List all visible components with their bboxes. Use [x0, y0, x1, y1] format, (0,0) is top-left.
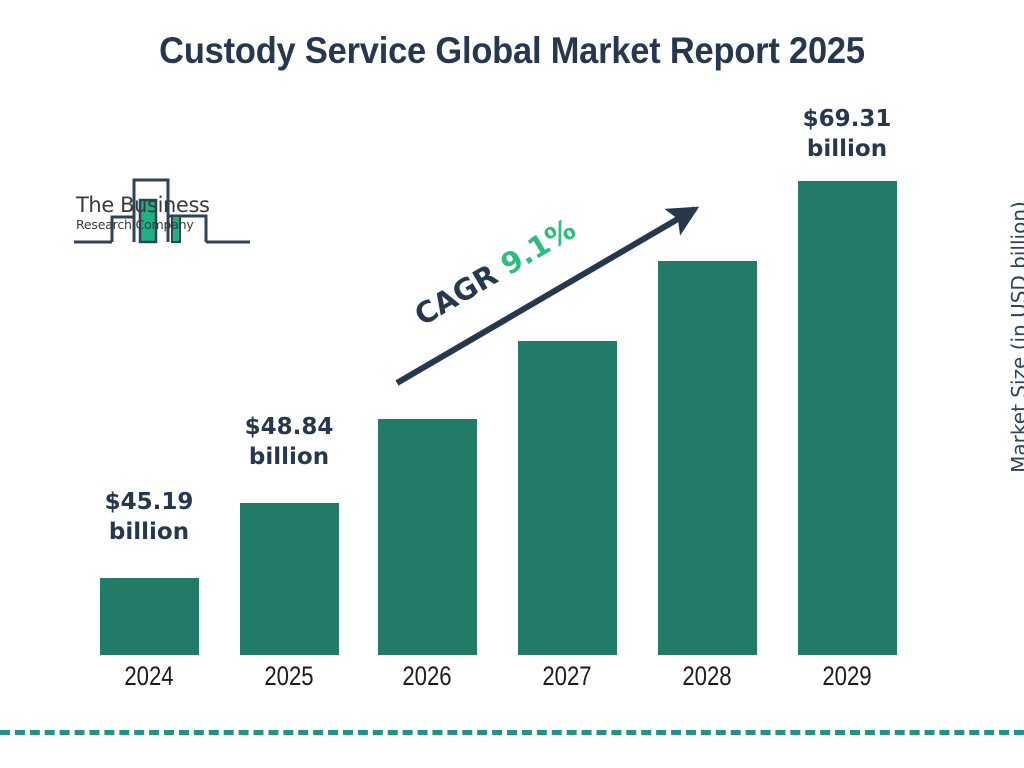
chart-canvas: Custody Service Global Market Report 202…: [0, 0, 1024, 768]
bar-value-amount-2024: $45.19: [74, 487, 224, 517]
bar-2026: [378, 419, 477, 655]
bar-2025: [240, 503, 339, 655]
y-axis-title: Market Size (in USD billion): [1007, 187, 1024, 487]
bar-2024: [100, 578, 199, 655]
x-label-2027: 2027: [526, 661, 608, 692]
x-label-2024: 2024: [108, 661, 190, 692]
bar-value-unit-2024: billion: [74, 517, 224, 547]
bar-2029: [798, 181, 897, 655]
x-label-2025: 2025: [248, 661, 330, 692]
bar-2027: [518, 341, 617, 655]
footer-divider: [0, 730, 1024, 735]
bar-chart-plot: $45.19 billion 2024 $48.84 billion 2025 …: [0, 0, 1024, 768]
x-label-2029: 2029: [806, 661, 888, 692]
bar-value-2024: $45.19 billion: [74, 487, 224, 547]
bar-2028: [658, 261, 757, 655]
x-label-2028: 2028: [666, 661, 748, 692]
bar-value-unit-2025: billion: [214, 442, 364, 472]
bar-value-2029: $69.31 billion: [772, 104, 922, 164]
bar-value-amount-2025: $48.84: [214, 412, 364, 442]
x-label-2026: 2026: [386, 661, 468, 692]
bar-value-2025: $48.84 billion: [214, 412, 364, 472]
bar-value-amount-2029: $69.31: [772, 104, 922, 134]
bar-value-unit-2029: billion: [772, 134, 922, 164]
